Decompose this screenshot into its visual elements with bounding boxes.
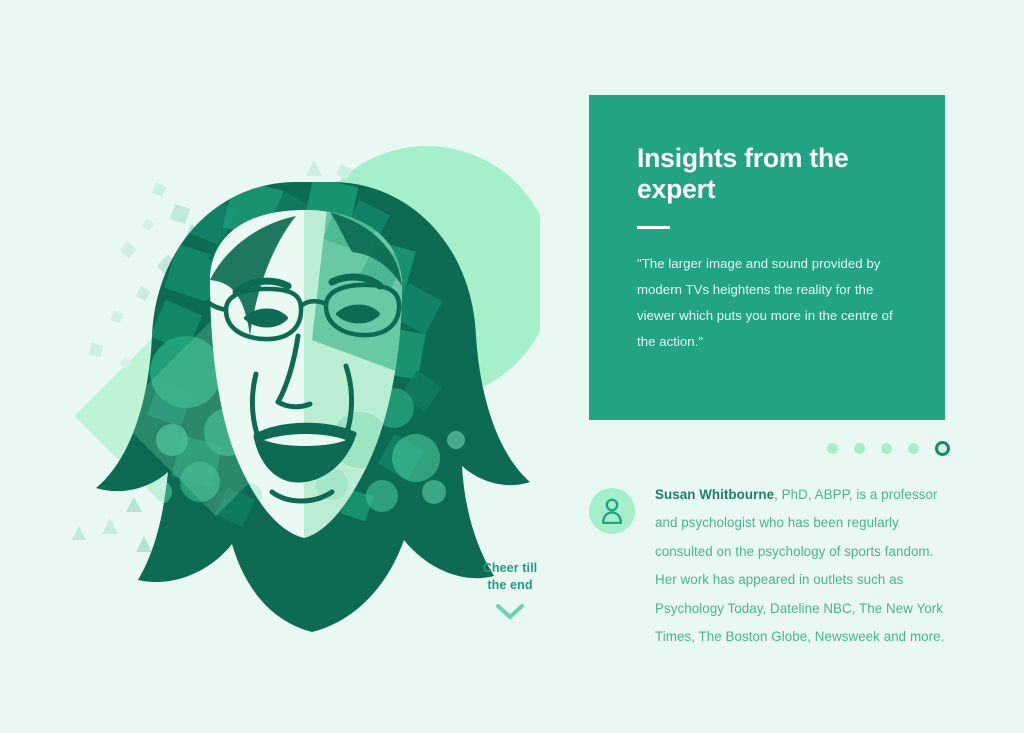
pagination-dot-3[interactable]: [881, 443, 892, 454]
carousel-pagination[interactable]: [827, 441, 950, 456]
scroll-prompt-line1: Cheer till: [460, 560, 560, 577]
quote-card-text: "The larger image and sound provided by …: [637, 251, 895, 355]
scroll-prompt[interactable]: Cheer till the end: [460, 560, 560, 621]
page-root: Cheer till the end Insights from the exp…: [0, 0, 1024, 733]
chevron-down-icon[interactable]: [460, 603, 560, 621]
bio-expert-name: Susan Whitbourne: [655, 487, 774, 502]
scroll-prompt-line2: the end: [460, 577, 560, 594]
insights-quote-card: Insights from the expert "The larger ima…: [589, 95, 945, 420]
pagination-dot-4[interactable]: [908, 443, 919, 454]
pagination-dot-5-active[interactable]: [935, 441, 950, 456]
pagination-dot-2[interactable]: [854, 443, 865, 454]
quote-card-title: Insights from the expert: [637, 143, 887, 206]
title-divider: [637, 226, 670, 229]
bio-paragraph: Susan Whitbourne, PhD, ABPP, is a profes…: [655, 481, 947, 651]
pagination-dot-1[interactable]: [827, 443, 838, 454]
person-icon: [589, 488, 635, 534]
bio-expert-description: , PhD, ABPP, is a professor and psycholo…: [655, 487, 944, 644]
expert-bio: Susan Whitbourne, PhD, ABPP, is a profes…: [589, 481, 949, 651]
